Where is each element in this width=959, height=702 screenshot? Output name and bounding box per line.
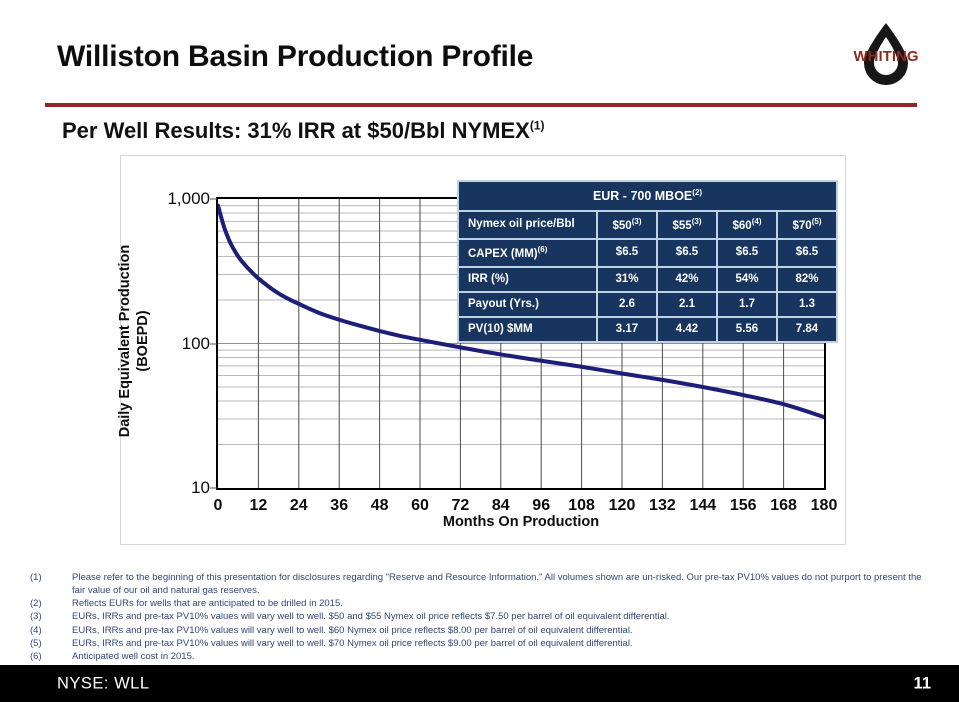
y-axis-title-line2: (BOEPD): [135, 310, 151, 371]
footnote-row: (3)EURs, IRRs and pre-tax PV10% values w…: [30, 611, 935, 624]
column-footnote-marker: (3): [692, 217, 702, 226]
x-axis-tick-label: 168: [770, 497, 797, 515]
table-column-header: $60(4): [718, 212, 776, 238]
column-footnote-marker: (3): [632, 217, 642, 226]
x-axis-tick-label: 72: [451, 497, 469, 515]
x-axis-tick-label: 180: [811, 497, 838, 515]
y-axis-tick-mark: [210, 488, 217, 489]
slide: Williston Basin Production Profile WHITI…: [0, 0, 959, 702]
table-title-footnote-marker: (2): [692, 188, 702, 197]
y-axis-tick-label: 10: [191, 478, 210, 498]
slide-subtitle: Per Well Results: 31% IRR at $50/Bbl NYM…: [62, 118, 545, 144]
footnote-text: EURs, IRRs and pre-tax PV10% values will…: [72, 611, 935, 624]
y-axis-title-line1: Daily Equivalent Production: [117, 245, 133, 438]
x-axis-tick-label: 36: [330, 497, 348, 515]
table-cell: 31%: [598, 268, 656, 291]
table-cell: 1.7: [718, 293, 776, 316]
table-row: IRR (%)31%42%54%82%: [459, 268, 836, 291]
footnote-row: (6)Anticipated well cost in 2015.: [30, 651, 935, 664]
footnote-row: (5)EURs, IRRs and pre-tax PV10% values w…: [30, 638, 935, 651]
table-cell: $6.5: [778, 240, 836, 266]
slide-footer: NYSE: WLL 11: [0, 665, 959, 702]
table-column-header: $50(3): [598, 212, 656, 238]
y-axis-tick-mark: [210, 343, 217, 344]
footnote-row: (4)EURs, IRRs and pre-tax PV10% values w…: [30, 625, 935, 638]
title-divider: [45, 103, 917, 107]
page-title: Williston Basin Production Profile: [57, 40, 533, 74]
x-axis-tick-label: 12: [249, 497, 267, 515]
footnote-marker: (5): [30, 638, 72, 651]
table-cell: 2.6: [598, 293, 656, 316]
x-axis-tick-label: 60: [411, 497, 429, 515]
table-cell: 4.42: [658, 318, 716, 341]
footnote-marker: (1): [30, 572, 72, 585]
y-axis-tick-label: 1,000: [167, 189, 210, 209]
x-axis-tick-label: 156: [730, 497, 757, 515]
footnote-text: Reflects EURs for wells that are anticip…: [72, 598, 935, 611]
footnote-marker: (4): [30, 625, 72, 638]
x-axis-tick-label: 108: [568, 497, 595, 515]
table-row: CAPEX (MM)(6)$6.5$6.5$6.5$6.5: [459, 240, 836, 266]
table-cell: 42%: [658, 268, 716, 291]
column-price: $50: [613, 219, 632, 231]
y-axis-tick-mark: [210, 199, 217, 200]
table-column-header: $70(5): [778, 212, 836, 238]
column-footnote-marker: (5): [812, 217, 822, 226]
x-axis-tick-label: 0: [214, 497, 223, 515]
footnote-text: EURs, IRRs and pre-tax PV10% values will…: [72, 638, 935, 651]
slide-subtitle-footnote-marker: (1): [530, 119, 545, 133]
table-row-label: PV(10) $MM: [459, 318, 596, 341]
x-axis-tick-label: 84: [492, 497, 510, 515]
footnote-text: EURs, IRRs and pre-tax PV10% values will…: [72, 625, 935, 638]
table-cell: 5.56: [718, 318, 776, 341]
footnote-text: Anticipated well cost in 2015.: [72, 651, 935, 664]
footnote-row: (1)Please refer to the beginning of this…: [30, 572, 935, 598]
table-row-label: CAPEX (MM)(6): [459, 240, 596, 266]
table-title-text: EUR - 700 MBOE: [593, 189, 692, 203]
footnote-marker: (2): [30, 598, 72, 611]
table-cell: 3.17: [598, 318, 656, 341]
x-axis-title: Months On Production: [216, 514, 826, 530]
footer-ticker: NYSE: WLL: [57, 674, 150, 693]
table-cell: $6.5: [718, 240, 776, 266]
x-axis-tick-label: 96: [532, 497, 550, 515]
table-row: Payout (Yrs.)2.62.11.71.3: [459, 293, 836, 316]
table-cell: 1.3: [778, 293, 836, 316]
footnotes: (1)Please refer to the beginning of this…: [30, 572, 935, 665]
table-body: CAPEX (MM)(6)$6.5$6.5$6.5$6.5IRR (%)31%4…: [459, 240, 836, 342]
x-axis-tick-label: 48: [371, 497, 389, 515]
table-cell: 54%: [718, 268, 776, 291]
table-cell: $6.5: [598, 240, 656, 266]
table-title-cell: EUR - 700 MBOE(2): [459, 182, 836, 210]
footnote-marker: (3): [30, 611, 72, 624]
column-price: $60: [733, 219, 752, 231]
x-axis-tick-label: 24: [290, 497, 308, 515]
table-cell: $6.5: [658, 240, 716, 266]
table-cell: 2.1: [658, 293, 716, 316]
table-row: PV(10) $MM3.174.425.567.84: [459, 318, 836, 341]
table-row-label: IRR (%): [459, 268, 596, 291]
table-column-header: $55(3): [658, 212, 716, 238]
logo-wordmark: WHITING: [854, 48, 919, 65]
footnote-marker: (6): [30, 651, 72, 664]
row-footnote-marker: (6): [538, 245, 548, 254]
x-axis-tick-label: 120: [609, 497, 636, 515]
slide-subtitle-text: Per Well Results: 31% IRR at $50/Bbl NYM…: [62, 118, 530, 143]
y-axis-title: Daily Equivalent Production (BOEPD): [119, 216, 149, 466]
table-header-row: Nymex oil price/Bbl $50(3) $55(3) $60(4)…: [459, 212, 836, 238]
eur-summary-table: EUR - 700 MBOE(2) Nymex oil price/Bbl $5…: [457, 180, 838, 343]
y-axis-tick-label: 100: [182, 334, 210, 354]
x-axis-tick-label: 144: [689, 497, 716, 515]
table-cell: 82%: [778, 268, 836, 291]
x-axis-tick-label: 132: [649, 497, 676, 515]
column-price: $70: [793, 219, 812, 231]
table-row-label: Payout (Yrs.): [459, 293, 596, 316]
column-price: $55: [673, 219, 692, 231]
column-footnote-marker: (4): [752, 217, 762, 226]
whiting-logo: WHITING: [838, 18, 934, 90]
table-title-row: EUR - 700 MBOE(2): [459, 182, 836, 210]
footnote-text: Please refer to the beginning of this pr…: [72, 572, 935, 598]
table-header-label: Nymex oil price/Bbl: [459, 212, 596, 238]
footnote-row: (2)Reflects EURs for wells that are anti…: [30, 598, 935, 611]
table-cell: 7.84: [778, 318, 836, 341]
footer-page-number: 11: [914, 674, 931, 693]
